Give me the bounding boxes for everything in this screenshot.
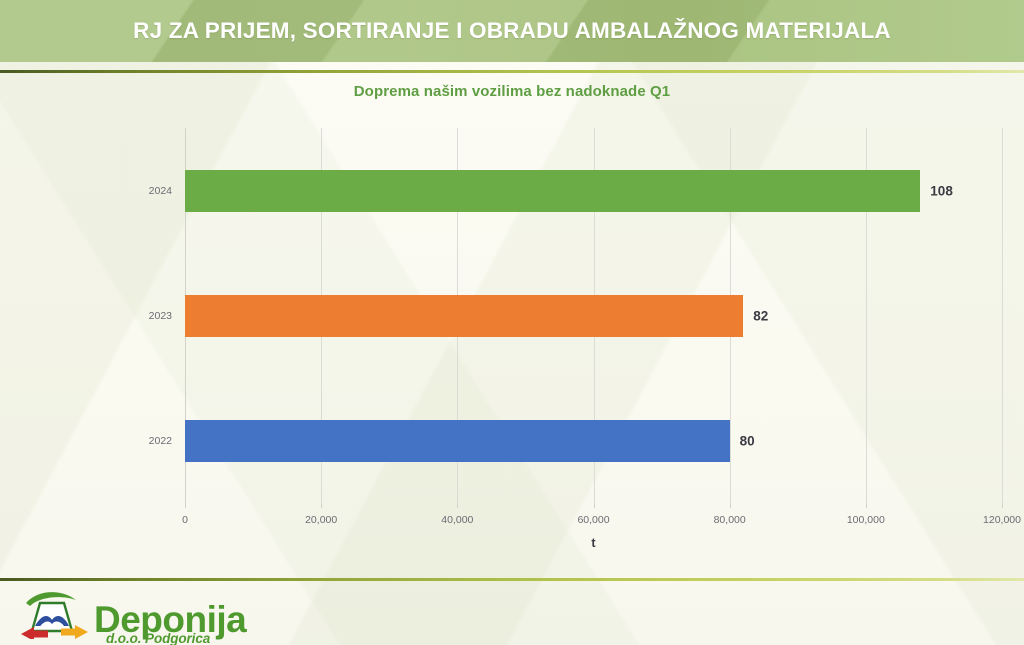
company-logo: Deponija d.o.o. Podgorica — [18, 587, 246, 639]
x-axis-tick-label: 120,000 — [983, 514, 1021, 526]
chart-bar-value-label: 108 — [930, 183, 953, 198]
chart-bar[interactable] — [185, 420, 730, 462]
logo-text-group: Deponija d.o.o. Podgorica — [94, 601, 246, 639]
x-axis-tick-label: 20,000 — [305, 514, 337, 526]
x-axis-tick-mark — [594, 503, 595, 508]
slide-footer: Deponija d.o.o. Podgorica — [0, 581, 1024, 645]
chart-bar[interactable] — [185, 170, 920, 212]
x-axis-tick-label: 60,000 — [577, 514, 609, 526]
x-axis-tick-label: 40,000 — [441, 514, 473, 526]
chart-gridline — [1002, 128, 1003, 503]
chart-bar[interactable] — [185, 295, 743, 337]
chart-title: Doprema našim vozilima bez nadoknade Q1 — [0, 83, 1024, 100]
x-axis-tick-mark — [1002, 503, 1003, 508]
chart-bar-value-label: 82 — [753, 308, 768, 323]
chart-bar-row: 202280 — [185, 420, 1002, 462]
slide-header: RJ ZA PRIJEM, SORTIRANJE I OBRADU AMBALA… — [0, 0, 1024, 62]
x-axis-title: t — [185, 536, 1002, 550]
chart-container: Doprema našim vozilima bez nadoknade Q1 … — [0, 73, 1024, 578]
x-axis-tick-mark — [185, 503, 186, 508]
y-axis-category-label: 2023 — [149, 310, 172, 322]
chart-bar-value-label: 80 — [740, 433, 755, 448]
landfill-trapezoid-icon — [18, 587, 92, 639]
logo-company-subtitle: d.o.o. Podgorica — [106, 631, 210, 645]
y-axis-category-label: 2022 — [149, 435, 172, 447]
x-axis-tick-label: 80,000 — [714, 514, 746, 526]
x-axis-tick-label: 0 — [182, 514, 188, 526]
chart-plot-area: t 020,00040,00060,00080,000100,000120,00… — [185, 128, 1002, 503]
chart-bar-row: 202382 — [185, 295, 1002, 337]
page-title: RJ ZA PRIJEM, SORTIRANJE I OBRADU AMBALA… — [133, 18, 891, 44]
y-axis-category-label: 2024 — [149, 185, 172, 197]
x-axis-tick-mark — [321, 503, 322, 508]
x-axis-tick-mark — [457, 503, 458, 508]
x-axis-tick-mark — [866, 503, 867, 508]
x-axis-tick-label: 100,000 — [847, 514, 885, 526]
x-axis-tick-mark — [730, 503, 731, 508]
chart-bar-row: 2024108 — [185, 170, 1002, 212]
slide: RJ ZA PRIJEM, SORTIRANJE I OBRADU AMBALA… — [0, 0, 1024, 645]
